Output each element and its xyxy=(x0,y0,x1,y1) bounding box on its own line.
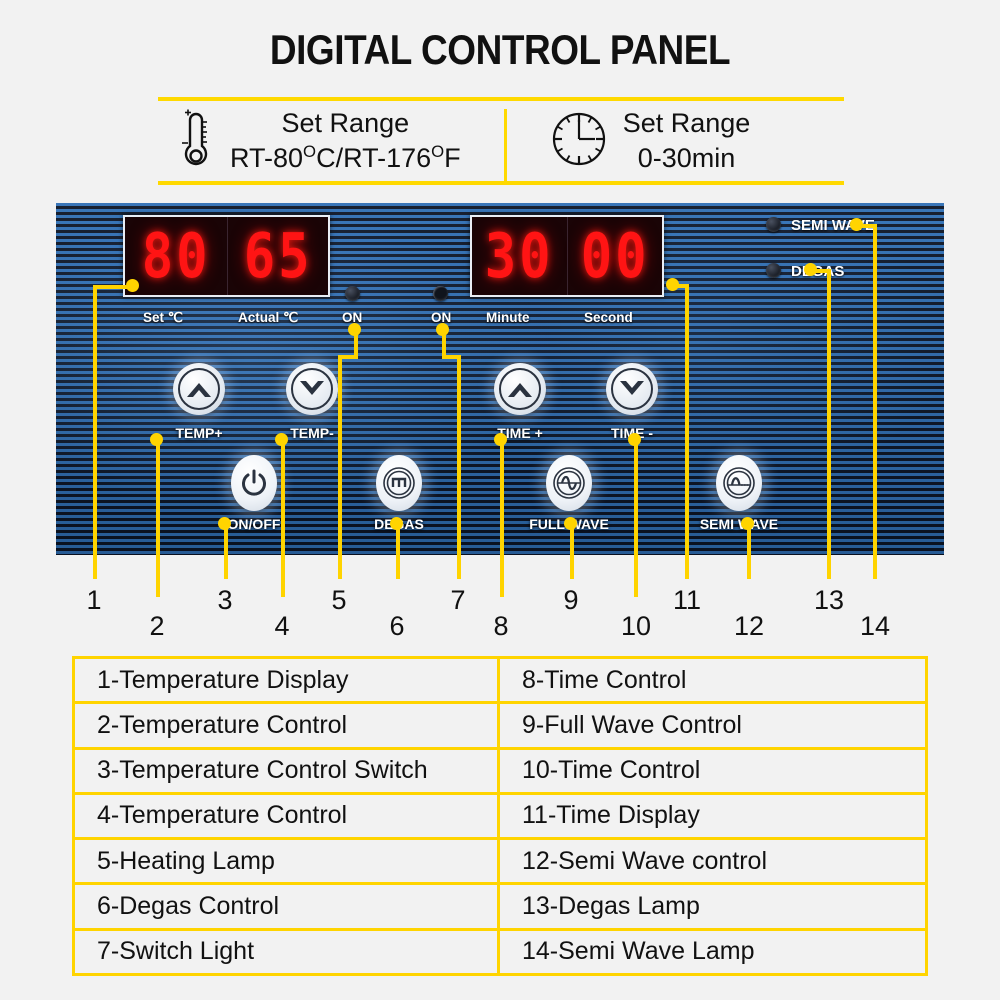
callout-stem-6 xyxy=(396,523,400,579)
on-off-button[interactable] xyxy=(231,455,277,511)
legend-item: 9-Full Wave Control xyxy=(500,701,925,746)
temp-up-button[interactable] xyxy=(173,363,225,415)
clock-icon xyxy=(549,109,609,174)
semi-wave-button-label: SEMI WAVE xyxy=(683,516,795,532)
time-second-display: 00 xyxy=(567,217,662,295)
callout-dot-13 xyxy=(804,263,817,276)
label-minute: Minute xyxy=(486,310,530,325)
callout-dot-14 xyxy=(850,218,863,231)
time-down-button[interactable] xyxy=(606,363,658,415)
temperature-set-display: 80 xyxy=(125,217,227,295)
temp-down-button[interactable] xyxy=(286,363,338,415)
label-actual-celsius: Actual ℃ xyxy=(238,310,298,326)
callout-stem-12 xyxy=(747,523,751,579)
callout-stem-4 xyxy=(281,439,285,597)
semi-wave-button[interactable] xyxy=(716,455,762,511)
spec-band: Set Range RT-80OC/RT-176OF xyxy=(158,97,844,185)
callout-number-10: 10 xyxy=(615,611,657,642)
time-minute-value: 30 xyxy=(485,225,554,287)
callout-stem-11 xyxy=(685,284,689,579)
temperature-actual-display: 65 xyxy=(227,217,329,295)
callout-dot-9 xyxy=(564,517,577,530)
spec-time-value: 0-30min xyxy=(623,141,751,176)
time-up-button[interactable] xyxy=(494,363,546,415)
callout-stem-14 xyxy=(873,224,877,579)
callout-number-3: 3 xyxy=(210,585,240,616)
spec-temperature-text: Set Range RT-80OC/RT-176OF xyxy=(230,106,461,175)
callout-stem-9 xyxy=(570,523,574,579)
temperature-display: 80 65 xyxy=(123,215,330,297)
callout-number-2: 2 xyxy=(142,611,172,642)
callout-stem-5 xyxy=(338,355,342,579)
legend-item: 13-Degas Lamp xyxy=(500,882,925,927)
legend-item: 6-Degas Control xyxy=(75,882,497,927)
chevron-up-icon xyxy=(178,368,220,410)
heating-lamp xyxy=(345,286,360,301)
legend-item: 4-Temperature Control xyxy=(75,792,497,837)
label-second: Second xyxy=(584,310,633,325)
callout-number-4: 4 xyxy=(267,611,297,642)
spec-time-range: Set Range 0-30min xyxy=(515,106,844,175)
callout-dot-8 xyxy=(494,433,507,446)
legend-item: 2-Temperature Control xyxy=(75,701,497,746)
callout-number-5: 5 xyxy=(324,585,354,616)
chevron-down-icon xyxy=(611,368,653,410)
callout-number-8: 8 xyxy=(486,611,516,642)
callout-dot-2 xyxy=(150,433,163,446)
spec-temperature-value: RT-80OC/RT-176OF xyxy=(230,141,461,176)
callout-dot-4 xyxy=(275,433,288,446)
page-root: DIGITAL CONTROL PANEL xyxy=(0,0,1000,1000)
chevron-down-icon xyxy=(291,368,333,410)
legend-item: 3-Temperature Control Switch xyxy=(75,747,497,792)
callout-stem-1 xyxy=(93,285,97,579)
callout-number-7: 7 xyxy=(443,585,473,616)
callout-dot-11 xyxy=(666,278,679,291)
time-minute-display: 30 xyxy=(472,217,567,295)
callout-dot-6 xyxy=(390,517,403,530)
semi-wave-icon xyxy=(722,466,756,500)
callout-number-11: 11 xyxy=(666,585,708,616)
label-set-celsius: Set ℃ xyxy=(143,310,183,326)
callout-dot-1 xyxy=(126,279,139,292)
legend-item: 5-Heating Lamp xyxy=(75,837,497,882)
spec-temperature-range: Set Range RT-80OC/RT-176OF xyxy=(158,106,515,175)
spec-time-text: Set Range 0-30min xyxy=(623,106,751,175)
legend-item: 7-Switch Light xyxy=(75,928,497,973)
time-display: 30 00 xyxy=(470,215,664,297)
on-off-label: ON/OFF xyxy=(198,516,310,532)
switch-light-lamp xyxy=(433,286,448,301)
power-icon xyxy=(241,469,267,497)
callout-number-9: 9 xyxy=(556,585,586,616)
callout-stem-3 xyxy=(224,523,228,579)
temp-down-label: TEMP- xyxy=(256,425,368,441)
chevron-up-icon xyxy=(499,368,541,410)
time-up-label: TIME + xyxy=(464,425,576,441)
callout-number-13: 13 xyxy=(808,585,850,616)
spec-divider xyxy=(504,109,507,181)
callout-dot-12 xyxy=(741,517,754,530)
legend-item: 14-Semi Wave Lamp xyxy=(500,928,925,973)
page-title: DIGITAL CONTROL PANEL xyxy=(60,26,940,74)
temperature-set-value: 80 xyxy=(141,225,210,287)
callout-dot-3 xyxy=(218,517,231,530)
callout-dot-10 xyxy=(628,433,641,446)
callout-number-1: 1 xyxy=(79,585,109,616)
callout-stem-10 xyxy=(634,439,638,597)
callout-stem-7 xyxy=(457,355,461,579)
legend-item: 8-Time Control xyxy=(500,659,925,701)
callout-number-6: 6 xyxy=(382,611,412,642)
thermometer-icon xyxy=(176,108,216,175)
full-wave-icon xyxy=(552,466,586,500)
degas-button[interactable] xyxy=(376,455,422,511)
legend-item: 1-Temperature Display xyxy=(75,659,497,701)
legend-item: 12-Semi Wave control xyxy=(500,837,925,882)
callout-stem-13 xyxy=(827,269,831,579)
legend-item: 10-Time Control xyxy=(500,747,925,792)
temperature-actual-value: 65 xyxy=(243,225,312,287)
time-second-value: 00 xyxy=(581,225,650,287)
full-wave-button[interactable] xyxy=(546,455,592,511)
callout-dot-7 xyxy=(436,323,449,336)
callout-number-14: 14 xyxy=(854,611,896,642)
callout-number-12: 12 xyxy=(728,611,770,642)
callout-stem-2 xyxy=(156,439,160,597)
legend-column-left: 1-Temperature Display 2-Temperature Cont… xyxy=(75,659,500,973)
callout-dot-5 xyxy=(348,323,361,336)
degas-icon xyxy=(382,466,416,500)
callout-stem-8 xyxy=(500,439,504,597)
semi-wave-lamp xyxy=(766,217,781,232)
legend-column-right: 8-Time Control 9-Full Wave Control 10-Ti… xyxy=(500,659,925,973)
legend-table: 1-Temperature Display 2-Temperature Cont… xyxy=(72,656,928,976)
degas-lamp xyxy=(766,263,781,278)
legend-item: 11-Time Display xyxy=(500,792,925,837)
